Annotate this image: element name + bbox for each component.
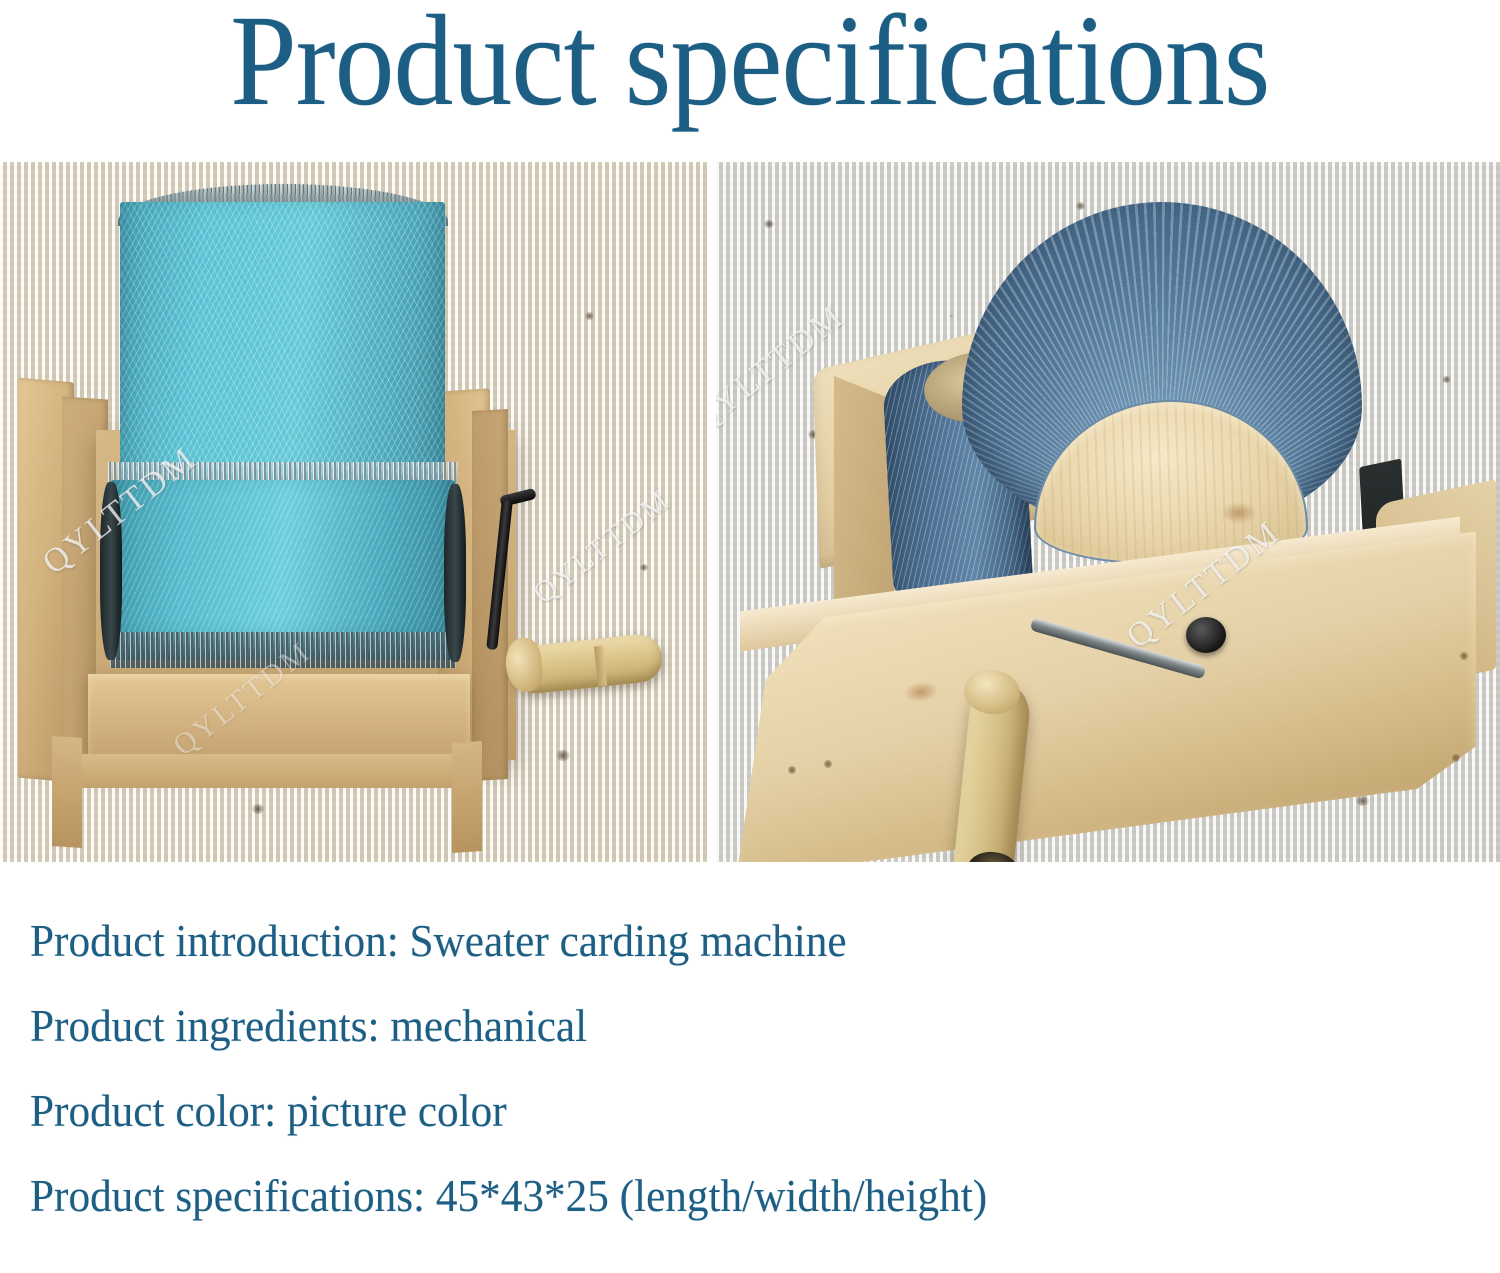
rug-speck [1442,376,1451,383]
spec-line-introduction: Product introduction: Sweater carding ma… [30,918,1412,964]
rug-speck [556,750,570,761]
carder-screw [1460,652,1468,660]
carder-drum-endcap-right [444,484,466,662]
rug-speck [640,564,648,571]
carder-base-rail [88,674,470,766]
carder-foot-right [452,741,482,853]
product-photo-front-view[interactable]: QYLTTDM QYLTTDM QYLTTDM [0,162,707,862]
rug-speck [585,312,594,320]
spec-line-dimensions: Product specifications: 45*43*25 (length… [30,1173,1412,1219]
product-photo-angled-view[interactable]: QYLTTDM QYLTTDM [716,162,1500,862]
carder-screw [1452,754,1460,762]
carder-drum-endcap-left [100,482,122,660]
rug-speck [1076,202,1085,210]
carder-screw [788,766,796,774]
carder-base-rail-lower [78,754,478,788]
product-image-gallery: QYLTTDM QYLTTDM QYLTTDM [0,162,1500,862]
carder-teeth-bottom [110,632,456,668]
carder-drum-wood-knot [1221,502,1257,524]
carder-screw [824,760,832,768]
spec-line-color: Product color: picture color [30,1088,1412,1134]
spec-line-ingredients: Product ingredients: mechanical [30,1003,1412,1049]
page-title: Product specifications [230,0,1269,126]
product-specifications-list: Product introduction: Sweater carding ma… [0,862,1500,1219]
carder-foot-left [52,736,82,848]
carder-crank-hub [1186,617,1226,653]
title-band: Product specifications [0,0,1500,162]
rug-speck [1356,796,1369,806]
carder-drum-upper [120,202,445,502]
rug-speck [764,220,774,228]
rug-speck [252,804,264,814]
